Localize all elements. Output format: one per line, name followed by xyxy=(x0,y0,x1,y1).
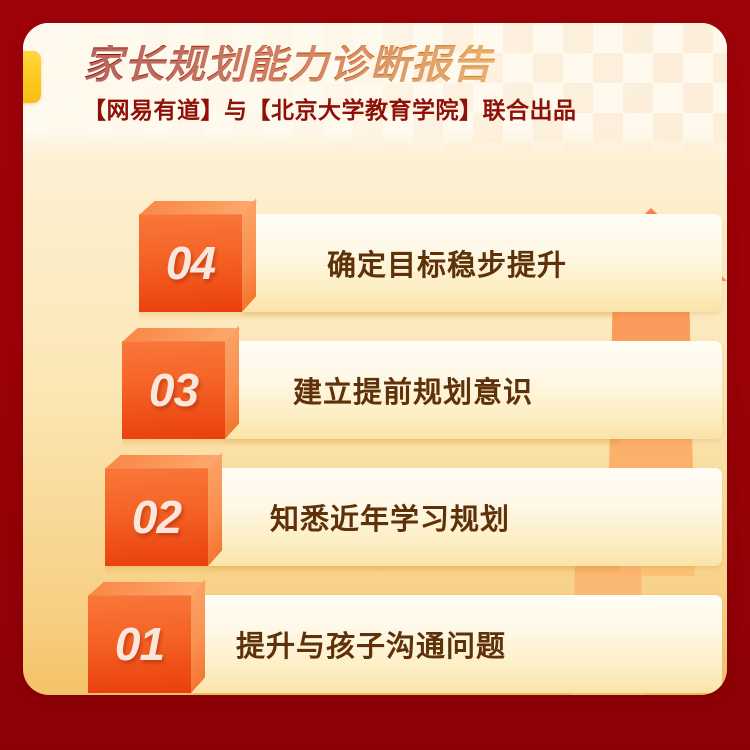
cube-side-face-02 xyxy=(208,452,222,566)
cube-front-face-01: 01 xyxy=(88,595,191,693)
step-shadow-02 xyxy=(105,566,619,575)
page-title: 家长规划能力诊断报告 xyxy=(83,45,577,85)
step-number-cube-03: 03 xyxy=(122,341,225,439)
step-number-cube-02: 02 xyxy=(105,468,208,566)
step-label-04: 确定目标稳步提升 xyxy=(327,242,567,284)
step-label-02: 知悉近年学习规划 xyxy=(270,496,510,538)
cube-top-face-03 xyxy=(122,328,241,342)
page-subtitle: 【网易有道】与【北京大学教育学院】联合出品 xyxy=(83,99,577,122)
header-bottom-fade xyxy=(23,130,727,156)
report-card: 家长规划能力诊断报告 【网易有道】与【北京大学教育学院】联合出品 xyxy=(23,23,727,695)
step-number-02: 02 xyxy=(132,494,181,540)
step-number-03: 03 xyxy=(149,367,198,413)
poster-root: 家长规划能力诊断报告 【网易有道】与【北京大学教育学院】联合出品 xyxy=(0,0,750,750)
cube-front-face-02: 02 xyxy=(105,468,208,566)
title-block: 家长规划能力诊断报告 【网易有道】与【北京大学教育学院】联合出品 xyxy=(83,45,577,122)
step-label-panel-04: 确定目标稳步提升 xyxy=(242,214,722,312)
step-label-03: 建立提前规划意识 xyxy=(293,369,533,411)
cube-side-face-01 xyxy=(191,579,205,693)
step-number-01: 01 xyxy=(115,621,164,667)
step-shadow-03 xyxy=(122,439,619,448)
step-number-cube-04: 04 xyxy=(139,214,242,312)
step-label-panel-02: 知悉近年学习规划 xyxy=(208,468,722,566)
cube-front-face-04: 04 xyxy=(139,214,242,312)
step-label-panel-03: 建立提前规划意识 xyxy=(225,341,722,439)
cube-top-face-04 xyxy=(139,201,258,215)
bookmark-tab-icon xyxy=(23,51,41,103)
cube-side-face-03 xyxy=(225,325,239,439)
cube-top-face-02 xyxy=(105,455,224,469)
step-label-01: 提升与孩子沟通问题 xyxy=(236,623,506,665)
cube-front-face-03: 03 xyxy=(122,341,225,439)
cube-top-face-01 xyxy=(88,582,207,596)
step-number-cube-01: 01 xyxy=(88,595,191,693)
step-label-panel-01: 提升与孩子沟通问题 xyxy=(191,595,722,693)
step-number-04: 04 xyxy=(166,240,215,286)
steps-area: 确定目标稳步提升 04 建立提前规划意识 xyxy=(23,156,727,695)
step-shadow-04 xyxy=(139,312,619,321)
cube-side-face-04 xyxy=(242,198,256,312)
